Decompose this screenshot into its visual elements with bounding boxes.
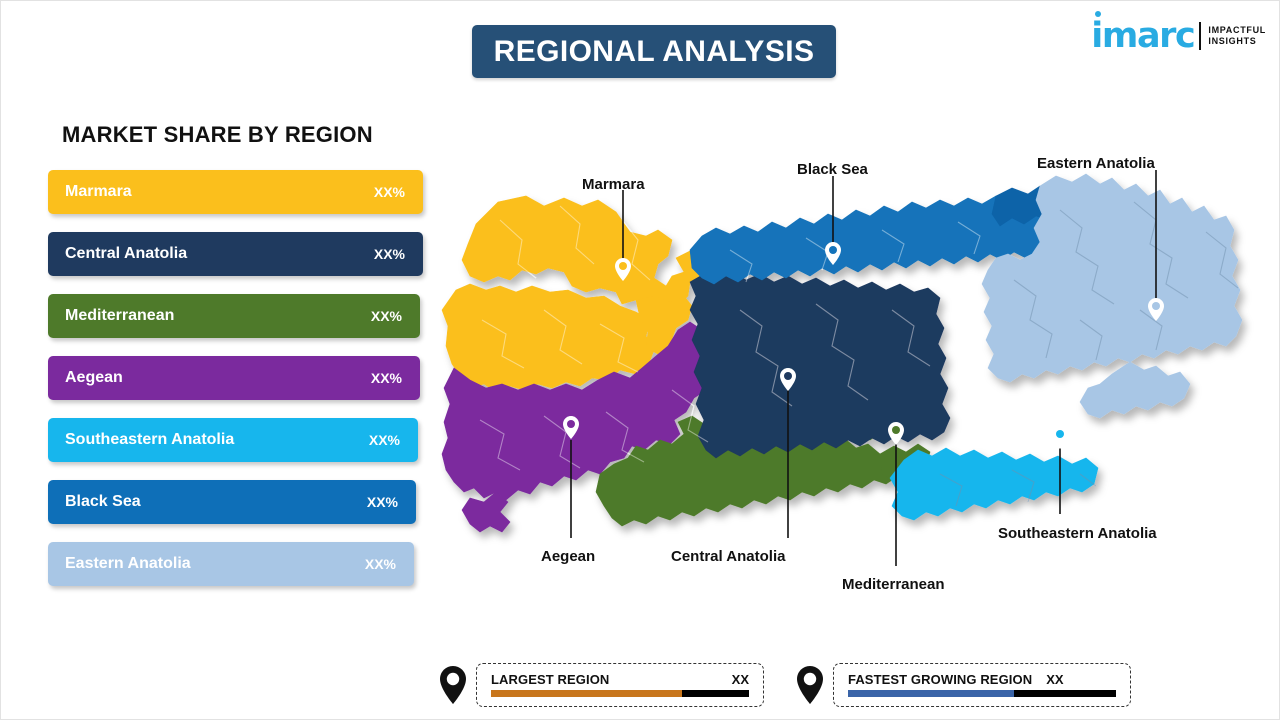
page-title: REGIONAL ANALYSIS xyxy=(494,35,815,69)
region-share-bar[interactable]: Black SeaXX% xyxy=(48,480,416,524)
region-share-value: XX% xyxy=(369,432,400,448)
logo-tagline-line1: IMPACTFUL xyxy=(1208,25,1266,36)
region-share-bar[interactable]: MarmaraXX% xyxy=(48,170,423,214)
fastest-region-value: XX xyxy=(1046,672,1063,687)
logo-wordmark: imarc xyxy=(1091,19,1194,54)
map-pin-mediterranean[interactable] xyxy=(888,422,904,445)
map-label-black-sea: Black Sea xyxy=(797,161,868,178)
map-region-central-anatolia[interactable] xyxy=(690,272,950,458)
map-label-eastern-anatolia: Eastern Anatolia xyxy=(1037,155,1155,172)
region-share-label: Marmara xyxy=(65,183,374,201)
map-pin-icon xyxy=(795,665,825,705)
region-share-label: Aegean xyxy=(65,369,371,387)
region-share-label: Southeastern Anatolia xyxy=(65,431,369,449)
region-share-value: XX% xyxy=(374,246,405,262)
largest-region-progress-fill xyxy=(491,690,682,697)
region-share-bar[interactable]: Central AnatoliaXX% xyxy=(48,232,423,276)
region-share-label: Black Sea xyxy=(65,493,367,511)
logo-tagline: IMPACTFUL INSIGHTS xyxy=(1208,25,1266,48)
region-share-label: Eastern Anatolia xyxy=(65,555,365,573)
region-share-value: XX% xyxy=(367,494,398,510)
region-share-value: XX% xyxy=(374,184,405,200)
region-share-value: XX% xyxy=(371,308,402,324)
map-label-mediterranean: Mediterranean xyxy=(842,576,945,593)
map-pin-icon xyxy=(438,665,468,705)
map-label-central-anatolia: Central Anatolia xyxy=(671,548,785,565)
map-label-southeastern-anatolia: Southeastern Anatolia xyxy=(998,525,1157,542)
largest-region-progress-track xyxy=(491,690,749,697)
page-title-banner: REGIONAL ANALYSIS xyxy=(472,25,836,78)
largest-region-value: XX xyxy=(732,672,749,687)
region-share-label: Central Anatolia xyxy=(65,245,374,263)
map-label-marmara: Marmara xyxy=(582,176,645,193)
fastest-region-label: FASTEST GROWING REGION xyxy=(848,672,1032,687)
map-pin-southeastern-anatolia[interactable] xyxy=(1052,426,1068,449)
fastest-region-progress-fill xyxy=(848,690,1014,697)
logo-wordmark-text: imarc xyxy=(1091,16,1194,56)
largest-region-box: LARGEST REGION XX xyxy=(476,663,764,707)
largest-region-row: LARGEST REGION XX xyxy=(491,672,749,687)
map-label-aegean: Aegean xyxy=(541,548,595,565)
largest-region-label: LARGEST REGION xyxy=(491,672,609,687)
imarc-logo: imarc IMPACTFUL INSIGHTS xyxy=(1091,16,1266,56)
map-region-eastern-anatolia-south[interactable] xyxy=(1080,362,1190,418)
map-region-southeastern-anatolia[interactable] xyxy=(890,448,1098,520)
fastest-growing-region-legend: FASTEST GROWING REGION XX xyxy=(795,662,1131,708)
fastest-region-row: FASTEST GROWING REGION XX xyxy=(848,672,1116,687)
logo-divider xyxy=(1199,22,1201,50)
market-share-heading: MARKET SHARE BY REGION xyxy=(62,122,373,148)
logo-tagline-line2: INSIGHTS xyxy=(1208,36,1266,47)
region-share-bar[interactable]: AegeanXX% xyxy=(48,356,420,400)
region-share-label: Mediterranean xyxy=(65,307,371,325)
region-share-value: XX% xyxy=(365,556,396,572)
region-share-bar[interactable]: Southeastern AnatoliaXX% xyxy=(48,418,418,462)
fastest-region-box: FASTEST GROWING REGION XX xyxy=(833,663,1131,707)
region-share-value: XX% xyxy=(371,370,402,386)
region-share-list: MarmaraXX%Central AnatoliaXX%Mediterrane… xyxy=(48,170,423,604)
logo-dot-icon xyxy=(1095,11,1101,17)
region-share-bar[interactable]: Eastern AnatoliaXX% xyxy=(48,542,414,586)
largest-region-legend: LARGEST REGION XX xyxy=(438,662,764,708)
region-share-bar[interactable]: MediterraneanXX% xyxy=(48,294,420,338)
fastest-region-progress-track xyxy=(848,690,1116,697)
